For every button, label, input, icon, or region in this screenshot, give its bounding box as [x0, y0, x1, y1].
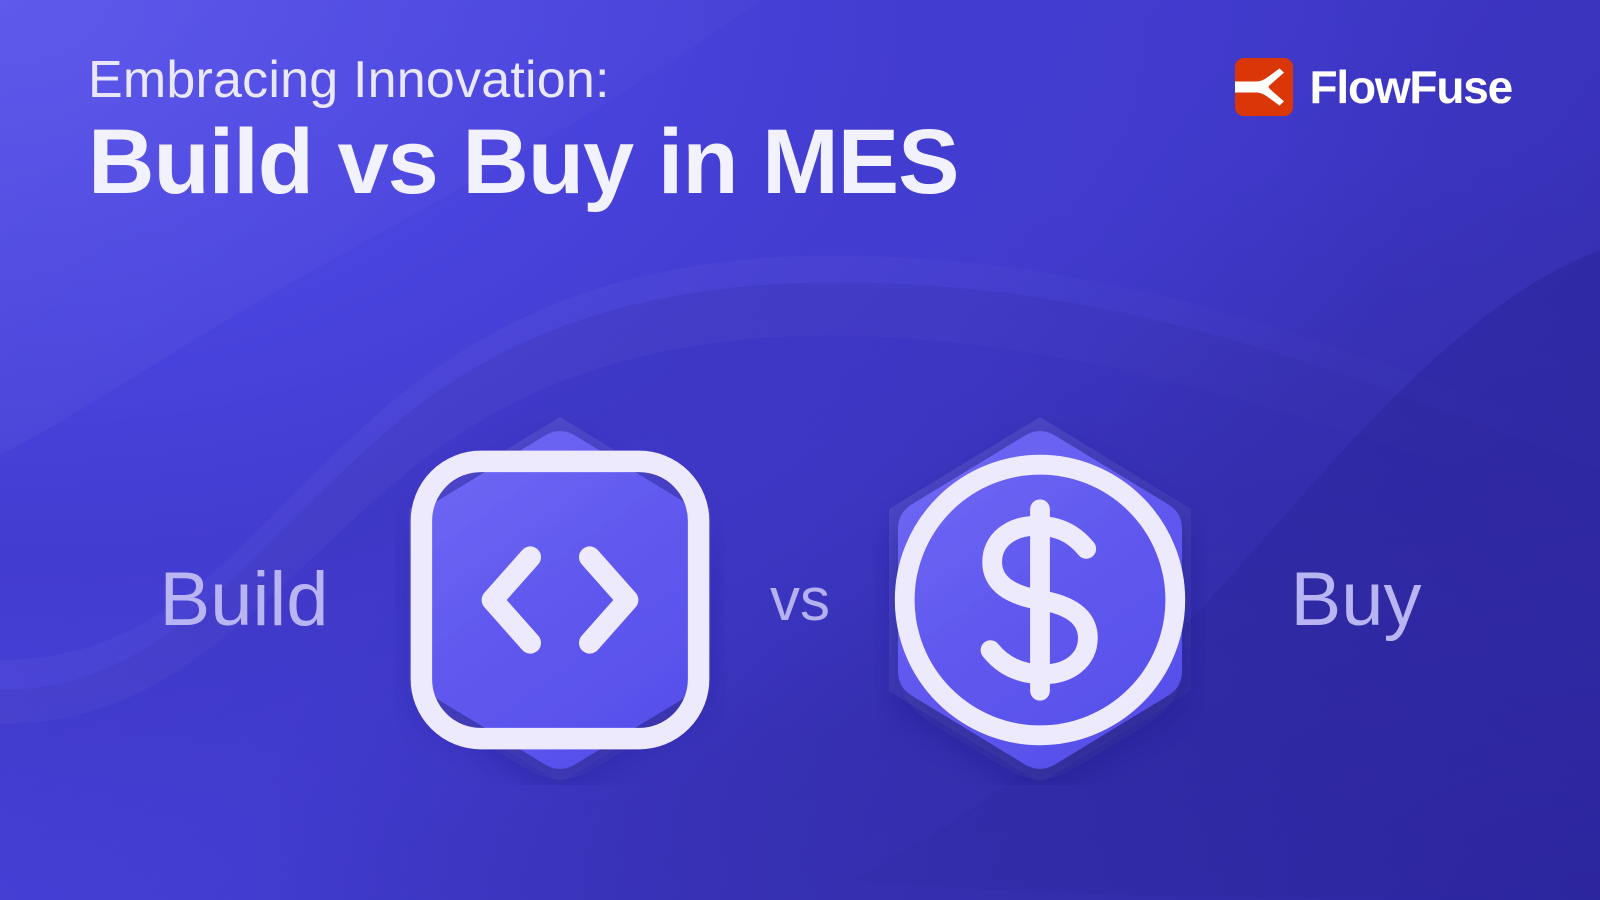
- vs-label: vs: [725, 570, 875, 630]
- buy-label: Buy: [1251, 562, 1461, 638]
- brand-logo[interactable]: FlowFuse: [1235, 58, 1512, 116]
- hero-banner: Embracing Innovation: Build vs Buy in ME…: [0, 0, 1600, 900]
- build-label: Build: [139, 562, 349, 638]
- compare-row: Build: [0, 400, 1600, 800]
- flowfuse-fork-mark-icon: [1235, 58, 1293, 116]
- page-title: Build vs Buy in MES: [88, 114, 1148, 212]
- brand-wordmark: FlowFuse: [1309, 64, 1512, 110]
- dollar-circle-icon: [875, 415, 1205, 785]
- code-brackets-icon: [395, 415, 725, 785]
- hexagon-build[interactable]: [395, 415, 725, 785]
- hero-header: Embracing Innovation: Build vs Buy in ME…: [88, 52, 1148, 212]
- hexagon-buy[interactable]: [875, 415, 1205, 785]
- hero-eyebrow: Embracing Innovation:: [88, 52, 1148, 108]
